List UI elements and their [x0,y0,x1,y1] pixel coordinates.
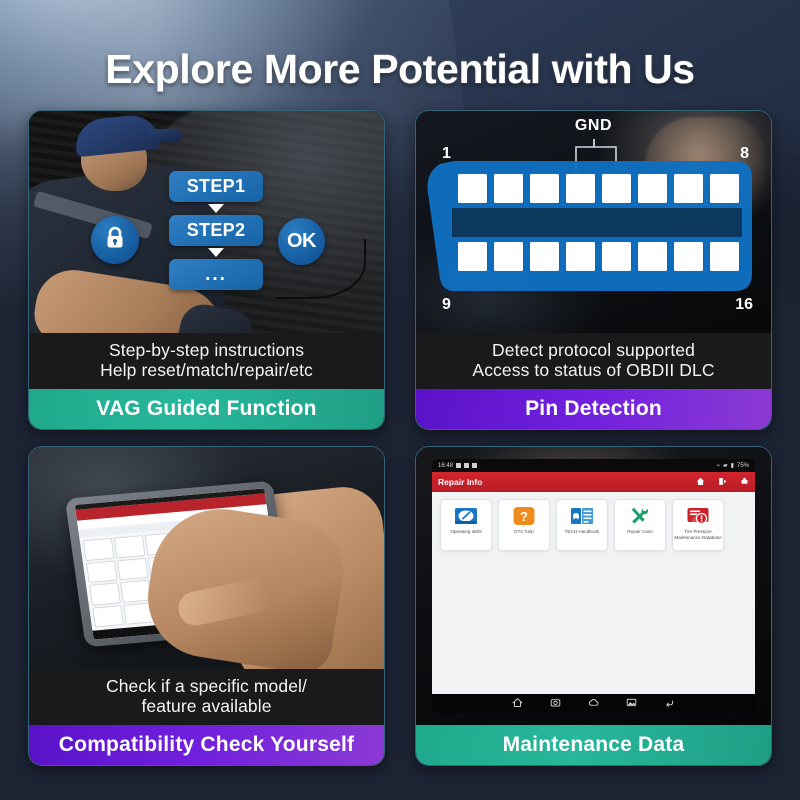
home-icon[interactable] [696,477,705,488]
wrench-icon [627,505,653,527]
infographic-page: Explore More Potential with Us [0,0,800,800]
ok-badge: OK [278,218,325,265]
card-caption: Detect protocol supported Access to stat… [416,333,771,389]
card-caption: Step-by-step instructions Help reset/mat… [29,333,384,389]
home-icon[interactable] [512,695,523,713]
gallery-icon[interactable] [626,695,637,713]
pin-number-9: 9 [442,296,451,314]
status-notification-icon [456,463,461,468]
brand-cell [114,535,146,558]
tile-operating-skills[interactable]: Operating skills [440,499,492,551]
flow-arrow-2-icon [208,248,224,257]
book-icon [453,505,479,527]
tile-label: Operating skills [442,529,490,535]
card-footer-maintenance-data[interactable]: Maintenance Data [416,725,771,765]
pin-number-8: 8 [740,145,749,163]
obd-connector-diagram: GND [416,111,771,333]
signal-icon: ▮ [731,462,734,469]
tile-label: Tire Pressure Maintenance Database [674,529,722,540]
caption-line-2: Help reset/match/repair/etc [35,360,378,381]
page-header: Explore More Potential with Us [0,36,800,102]
repair-info-tile-row: Operating skills ? DTC help [440,499,747,551]
step-more-chip: ... [169,259,263,290]
camera-icon[interactable] [550,695,561,713]
card-pin-detection[interactable]: GND [415,110,772,430]
brand-cell [92,605,124,628]
card-media-hands-tablet [29,447,384,669]
exit-icon[interactable] [718,477,727,488]
card-vag-guided-function[interactable]: STEP1 STEP2 ... OK Step-by-step instruct… [28,110,385,430]
tile-repair-case[interactable]: Repair Case [614,499,666,551]
wifi-icon: ▰ [723,462,728,469]
android-status-bar: 16:48 ⌁ ▰ ▮ 75% [432,459,755,472]
handbook-icon [569,505,595,527]
repair-info-screen: 16:48 ⌁ ▰ ▮ 75% Repair In [432,459,755,713]
print-icon[interactable] [740,477,749,488]
bluetooth-icon: ⌁ [716,462,720,469]
caption-line-2: Access to status of OBDII DLC [422,360,765,381]
tile-tpms-database[interactable]: Tire Pressure Maintenance Database [672,499,724,551]
caption-line-1: Check if a specific model/ [35,676,378,697]
caption-line-1: Step-by-step instructions [35,340,378,361]
back-icon[interactable] [664,695,675,713]
repair-info-body: Operating skills ? DTC help [432,492,755,694]
card-footer-vag-guided-function[interactable]: VAG Guided Function [29,389,384,429]
caption-line-2: feature available [35,696,378,717]
battery-percent: 75% [737,463,749,469]
caption-line-1: Detect protocol supported [422,340,765,361]
card-media-workshop: STEP1 STEP2 ... OK [29,111,384,333]
cloud-icon[interactable] [588,695,599,713]
pin-number-16: 16 [735,296,753,314]
card-compatibility-check[interactable]: Check if a specific model/ feature avail… [28,446,385,766]
lock-badge [91,216,139,264]
card-caption: Check if a specific model/ feature avail… [29,669,384,725]
step-flow: STEP1 STEP2 ... [169,171,263,290]
status-time: 16:48 [438,463,453,469]
status-notification-icon [464,463,469,468]
hands-photo [29,447,384,669]
tile-label: TECH Handbook [558,529,606,535]
tile-label: Repair Case [616,529,664,535]
android-nav-bar [432,694,755,713]
tpms-icon [685,505,711,527]
brand-cell [89,582,121,605]
feature-card-grid: STEP1 STEP2 ... OK Step-by-step instruct… [28,110,772,776]
card-maintenance-data[interactable]: 16:48 ⌁ ▰ ▮ 75% Repair In [415,446,772,766]
brand-cell [117,557,149,580]
brand-cell [86,560,118,583]
tile-label: DTC help [500,529,548,535]
step-1-chip: STEP1 [169,171,263,202]
tile-tech-handbook[interactable]: TECH Handbook [556,499,608,551]
lock-icon [104,226,126,255]
page-title: Explore More Potential with Us [105,46,694,93]
status-notification-icon [472,463,477,468]
step-2-chip: STEP2 [169,215,263,246]
question-icon: ? [511,505,537,527]
app-title: Repair Info [438,477,482,487]
card-footer-compatibility-check[interactable]: Compatibility Check Yourself [29,725,384,765]
svg-text:?: ? [520,509,528,524]
pin-number-1: 1 [442,145,451,163]
repair-info-title-bar: Repair Info [432,472,755,492]
card-media-repair-info: 16:48 ⌁ ▰ ▮ 75% Repair In [416,447,771,725]
card-media-obd: GND [416,111,771,333]
tile-dtc-help[interactable]: ? DTC help [498,499,550,551]
brand-cell [83,538,115,561]
card-footer-pin-detection[interactable]: Pin Detection [416,389,771,429]
flow-arrow-1-icon [208,204,224,213]
